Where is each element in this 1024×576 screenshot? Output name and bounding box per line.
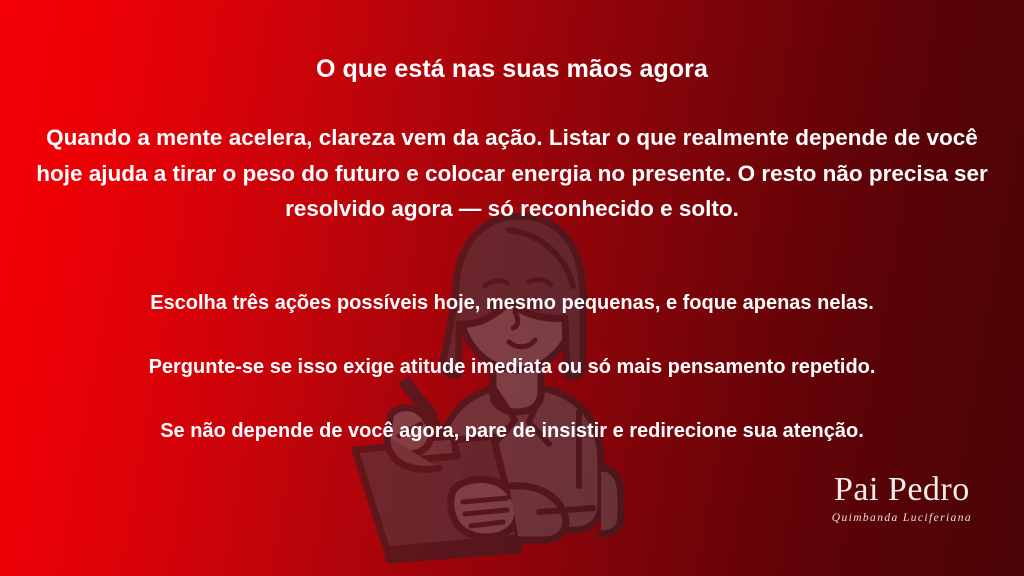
advice-point-2: Pergunte-se se isso exige atitude imedia…: [42, 353, 982, 381]
brand-logo: Pai Pedro Quimbanda Luciferiana: [832, 473, 972, 524]
logo-tagline: Quimbanda Luciferiana: [832, 512, 972, 524]
lead-paragraph: Quando a mente acelera, clareza vem da a…: [36, 120, 988, 227]
advice-point-3: Se não depende de você agora, pare de in…: [42, 417, 982, 445]
slide-canvas: O que está nas suas mãos agora Quando a …: [0, 0, 1024, 576]
advice-point-1: Escolha três ações possíveis hoje, mesmo…: [42, 289, 982, 317]
logo-wordmark: Pai Pedro: [832, 473, 972, 507]
page-title: O que está nas suas mãos agora: [0, 54, 1024, 84]
